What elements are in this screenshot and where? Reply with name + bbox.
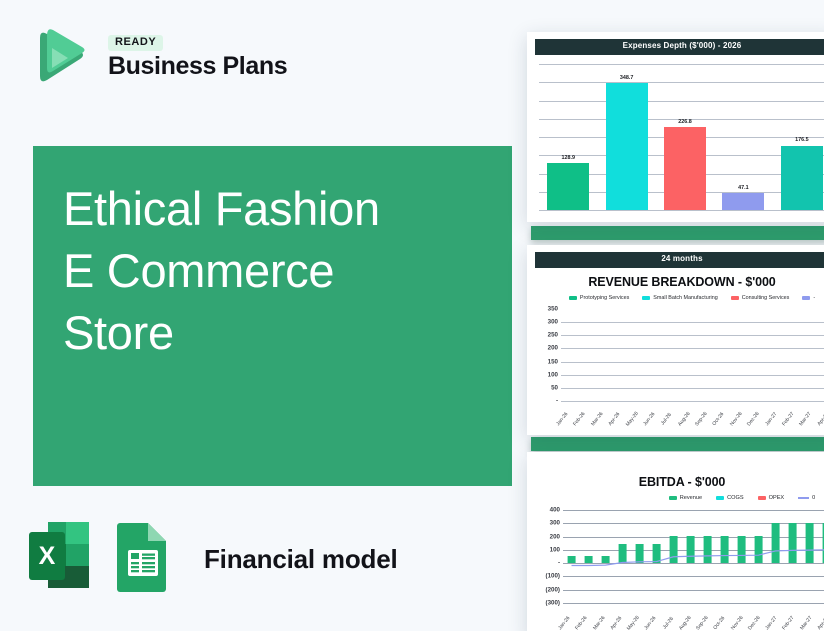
- gridline: [539, 210, 824, 211]
- y-axis-tick: 300: [550, 520, 560, 527]
- stacked-bar-group: [563, 510, 824, 603]
- stack-segment-positive: [584, 556, 593, 563]
- bar-value-label: 176.5: [795, 137, 809, 143]
- x-axis-tick: Mar-26: [589, 410, 604, 427]
- bar-value-label: 47.1: [738, 185, 749, 191]
- bar-value-label: 226.8: [678, 119, 692, 125]
- bar-slot: [801, 309, 818, 401]
- bar-slot: [767, 510, 784, 603]
- bar-slot: [818, 510, 824, 603]
- bar-slot: [767, 309, 784, 401]
- x-axis-tick: Apr-27: [815, 410, 824, 427]
- x-axis-tick: Mar-27: [798, 410, 813, 427]
- bar-slot: [630, 309, 647, 401]
- x-axis-tick: Aug-26: [677, 615, 692, 631]
- stack-segment-positive: [618, 544, 627, 563]
- y-axis-tick: 100: [550, 546, 560, 553]
- x-axis-tick: Sep-26: [694, 410, 709, 427]
- stack-segment-positive: [720, 536, 729, 563]
- legend-color-swatch: [802, 296, 810, 300]
- legend-color-swatch: [716, 496, 724, 500]
- brand-name: Business Plans: [108, 54, 287, 79]
- bar: [606, 83, 648, 210]
- x-axis-tick: Dec-26: [746, 615, 761, 631]
- stack-segment-positive: [703, 536, 712, 563]
- x-axis-tick: Oct-26: [711, 410, 726, 427]
- x-axis-tick: Apr-26: [607, 410, 622, 427]
- title-panel: Ethical Fashion E Commerce Store: [33, 146, 512, 486]
- bar-slot: [664, 309, 681, 401]
- legend-item: Consulting Services: [731, 295, 790, 301]
- x-axis-tick: Feb-26: [574, 615, 589, 631]
- bar-slot: [732, 309, 749, 401]
- bar-value-label: 128.9: [561, 155, 575, 161]
- bar-slot: [580, 510, 597, 603]
- plot-area-expenses: 128.9348.7226.847.1176.5: [539, 64, 824, 210]
- bar-slot: [561, 309, 578, 401]
- legend-color-swatch: [758, 496, 766, 500]
- plot-area-revenue: 35030025020015010050-: [535, 309, 824, 401]
- bar-slot: [750, 510, 767, 603]
- x-axis-tick: Mar-26: [591, 615, 606, 631]
- legend-color-swatch: [731, 296, 739, 300]
- y-axis-tick: 200: [548, 345, 558, 352]
- stack-segment-positive: [567, 556, 576, 563]
- x-axis-tick: Mar-27: [798, 615, 813, 631]
- y-axis-tick: 250: [548, 332, 558, 339]
- chart-title-revenue: REVENUE BREAKDOWN - $'000: [527, 275, 824, 289]
- stack-segment-positive: [737, 536, 746, 563]
- bar: [547, 163, 589, 210]
- x-axis-tick: Apr-26: [608, 615, 623, 631]
- stacked-bar-group: [561, 309, 824, 401]
- bar-group: 128.9348.7226.847.1176.5: [539, 64, 824, 210]
- bar-slot: [563, 510, 580, 603]
- x-axis-tick: Aug-26: [676, 410, 691, 427]
- x-axis-tick: Jan-26: [555, 410, 570, 427]
- bar-slot: [647, 309, 664, 401]
- x-axis-tick: Jun-26: [643, 615, 658, 631]
- x-axis-tick: Jan-27: [764, 615, 779, 631]
- y-axis-tick: -: [558, 560, 560, 567]
- accent-bar-bottom: [531, 437, 824, 451]
- x-axis-labels-revenue: Jan-26Feb-26Mar-26Apr-26May-26Jun-26Jul-…: [557, 423, 824, 429]
- stack-segment-positive: [788, 523, 797, 564]
- bar-slot: [682, 510, 699, 603]
- bar-slot: [597, 510, 614, 603]
- legend-label: COGS: [727, 495, 743, 501]
- bar-slot: [648, 510, 665, 603]
- legend-label: Small Batch Manufacturing: [653, 295, 717, 301]
- y-axis-tick: (200): [546, 586, 560, 593]
- legend-color-swatch: [569, 296, 577, 300]
- x-axis-tick: May-26: [626, 615, 641, 631]
- chart-card-revenue-breakdown: 24 months REVENUE BREAKDOWN - $'000 Prot…: [527, 245, 824, 435]
- x-axis-tick: Dec-26: [746, 410, 761, 427]
- stack-segment-positive: [669, 536, 678, 563]
- bar-slot: [614, 510, 631, 603]
- x-axis-tick: Jan-27: [763, 410, 778, 427]
- x-axis-tick: May-26: [624, 410, 639, 427]
- y-axis-tick: 50: [551, 384, 558, 391]
- bar-slot: [784, 309, 801, 401]
- bar-slot: 348.7: [597, 64, 655, 210]
- legend-label: Prototyping Services: [580, 295, 629, 301]
- microsoft-excel-icon: X: [28, 520, 96, 598]
- bar-slot: [699, 510, 716, 603]
- legend-item: Prototyping Services: [569, 295, 629, 301]
- bar-slot: [749, 309, 766, 401]
- x-axis-tick: Sep-26: [695, 615, 710, 631]
- x-axis-tick: Feb-27: [781, 615, 796, 631]
- bar-slot: [801, 510, 818, 603]
- bar-value-label: 348.7: [620, 75, 634, 81]
- stack-segment-positive: [771, 523, 780, 564]
- stack-segment-positive: [635, 544, 644, 563]
- bar-slot: [681, 309, 698, 401]
- gridline: [561, 401, 824, 402]
- stack-segment-positive: [686, 536, 695, 563]
- bar: [664, 127, 706, 210]
- stack-segment-positive: [805, 523, 814, 564]
- bar-slot: 47.1: [714, 64, 772, 210]
- footer-label: Financial model: [204, 544, 398, 575]
- legend-label: OPEX: [769, 495, 785, 501]
- plot-area-ebitda: 400300200100-(100)(200)(300): [535, 510, 824, 603]
- stack-segment-positive: [754, 536, 763, 563]
- bar-slot: [595, 309, 612, 401]
- legend-item: COGS: [716, 495, 743, 501]
- accent-bar-top: [531, 226, 824, 240]
- chart-legend-revenue: Prototyping ServicesSmall Batch Manufact…: [527, 295, 824, 301]
- bar-slot: 226.8: [656, 64, 714, 210]
- brand-logo-block: READY Business Plans: [28, 26, 287, 88]
- bar-slot: [818, 309, 824, 401]
- bar-slot: [784, 510, 801, 603]
- bar-slot: 128.9: [539, 64, 597, 210]
- y-axis-tick: 400: [550, 507, 560, 514]
- y-axis-tick: 200: [550, 533, 560, 540]
- x-axis-tick: Oct-26: [712, 615, 727, 631]
- chart-card-expenses: Expenses Depth ($'000) - 2026 128.9348.7…: [527, 32, 824, 222]
- y-axis-tick: (100): [546, 573, 560, 580]
- legend-label: Consulting Services: [742, 295, 790, 301]
- legend-line-swatch: [798, 497, 809, 499]
- legend-item: Revenue: [669, 495, 702, 501]
- x-axis-tick: Jun-26: [642, 410, 657, 427]
- y-axis-tick: 100: [548, 371, 558, 378]
- ready-badge: READY: [108, 35, 163, 51]
- x-axis-tick: Jul-26: [660, 615, 675, 631]
- legend-label: -: [813, 295, 815, 301]
- x-axis-tick: Jan-26: [557, 615, 572, 631]
- chart-title-ebitda: EBITDA - $'000: [527, 475, 824, 489]
- x-axis-tick: Apr-27: [815, 615, 824, 631]
- brand-text: READY Business Plans: [108, 35, 287, 79]
- bar-slot: [733, 510, 750, 603]
- y-axis-tick: (300): [546, 600, 560, 607]
- legend-item: OPEX: [758, 495, 785, 501]
- plot-inner: 400300200100-(100)(200)(300): [563, 510, 824, 603]
- legend-item: -: [802, 295, 815, 301]
- legend-item: 0: [798, 495, 815, 501]
- bar-slot: 176.5: [773, 64, 824, 210]
- chart-legend-ebitda: RevenueCOGSOPEX0: [527, 495, 824, 501]
- legend-item: Small Batch Manufacturing: [642, 295, 717, 301]
- bar: [781, 146, 823, 210]
- bar-slot: [665, 510, 682, 603]
- page-title: Ethical Fashion E Commerce Store: [63, 178, 483, 364]
- legend-color-swatch: [642, 296, 650, 300]
- legend-color-swatch: [669, 496, 677, 500]
- plot-inner: 35030025020015010050-: [561, 309, 824, 401]
- legend-label: Revenue: [680, 495, 702, 501]
- y-axis-tick: 350: [548, 306, 558, 313]
- google-sheets-icon: [114, 520, 182, 598]
- bar: [722, 193, 764, 210]
- bar-slot: [716, 510, 733, 603]
- footer-row: X Financial model: [28, 520, 398, 598]
- x-axis-labels-ebitda: Jan-26Feb-26Mar-26Apr-26May-26Jun-26Jul-…: [559, 627, 824, 631]
- svg-text:X: X: [39, 542, 56, 570]
- chart-card-ebitda: EBITDA - $'000 RevenueCOGSOPEX0 40030020…: [527, 452, 824, 631]
- x-axis-tick: Nov-26: [729, 615, 744, 631]
- gridline: [563, 603, 824, 604]
- poster-canvas: READY Business Plans Ethical Fashion E C…: [0, 0, 824, 631]
- legend-label: 0: [812, 495, 815, 501]
- stack-segment-positive: [601, 556, 610, 563]
- bar-slot: [631, 510, 648, 603]
- x-axis-tick: Feb-26: [572, 410, 587, 427]
- stack-segment-positive: [652, 544, 661, 563]
- chart-header-expenses: Expenses Depth ($'000) - 2026: [535, 39, 824, 55]
- y-axis-tick: 300: [548, 319, 558, 326]
- play-triangle-logo-icon: [28, 26, 94, 88]
- bar-slot: [612, 309, 629, 401]
- x-axis-tick: Jul-26: [659, 410, 674, 427]
- bar-slot: [715, 309, 732, 401]
- chart-header-revenue: 24 months: [535, 252, 824, 268]
- y-axis-tick: 150: [548, 358, 558, 365]
- x-axis-tick: Nov-26: [728, 410, 743, 427]
- x-axis-tick: Feb-27: [781, 410, 796, 427]
- bar-slot: [698, 309, 715, 401]
- y-axis-tick: -: [556, 398, 558, 405]
- bar-slot: [578, 309, 595, 401]
